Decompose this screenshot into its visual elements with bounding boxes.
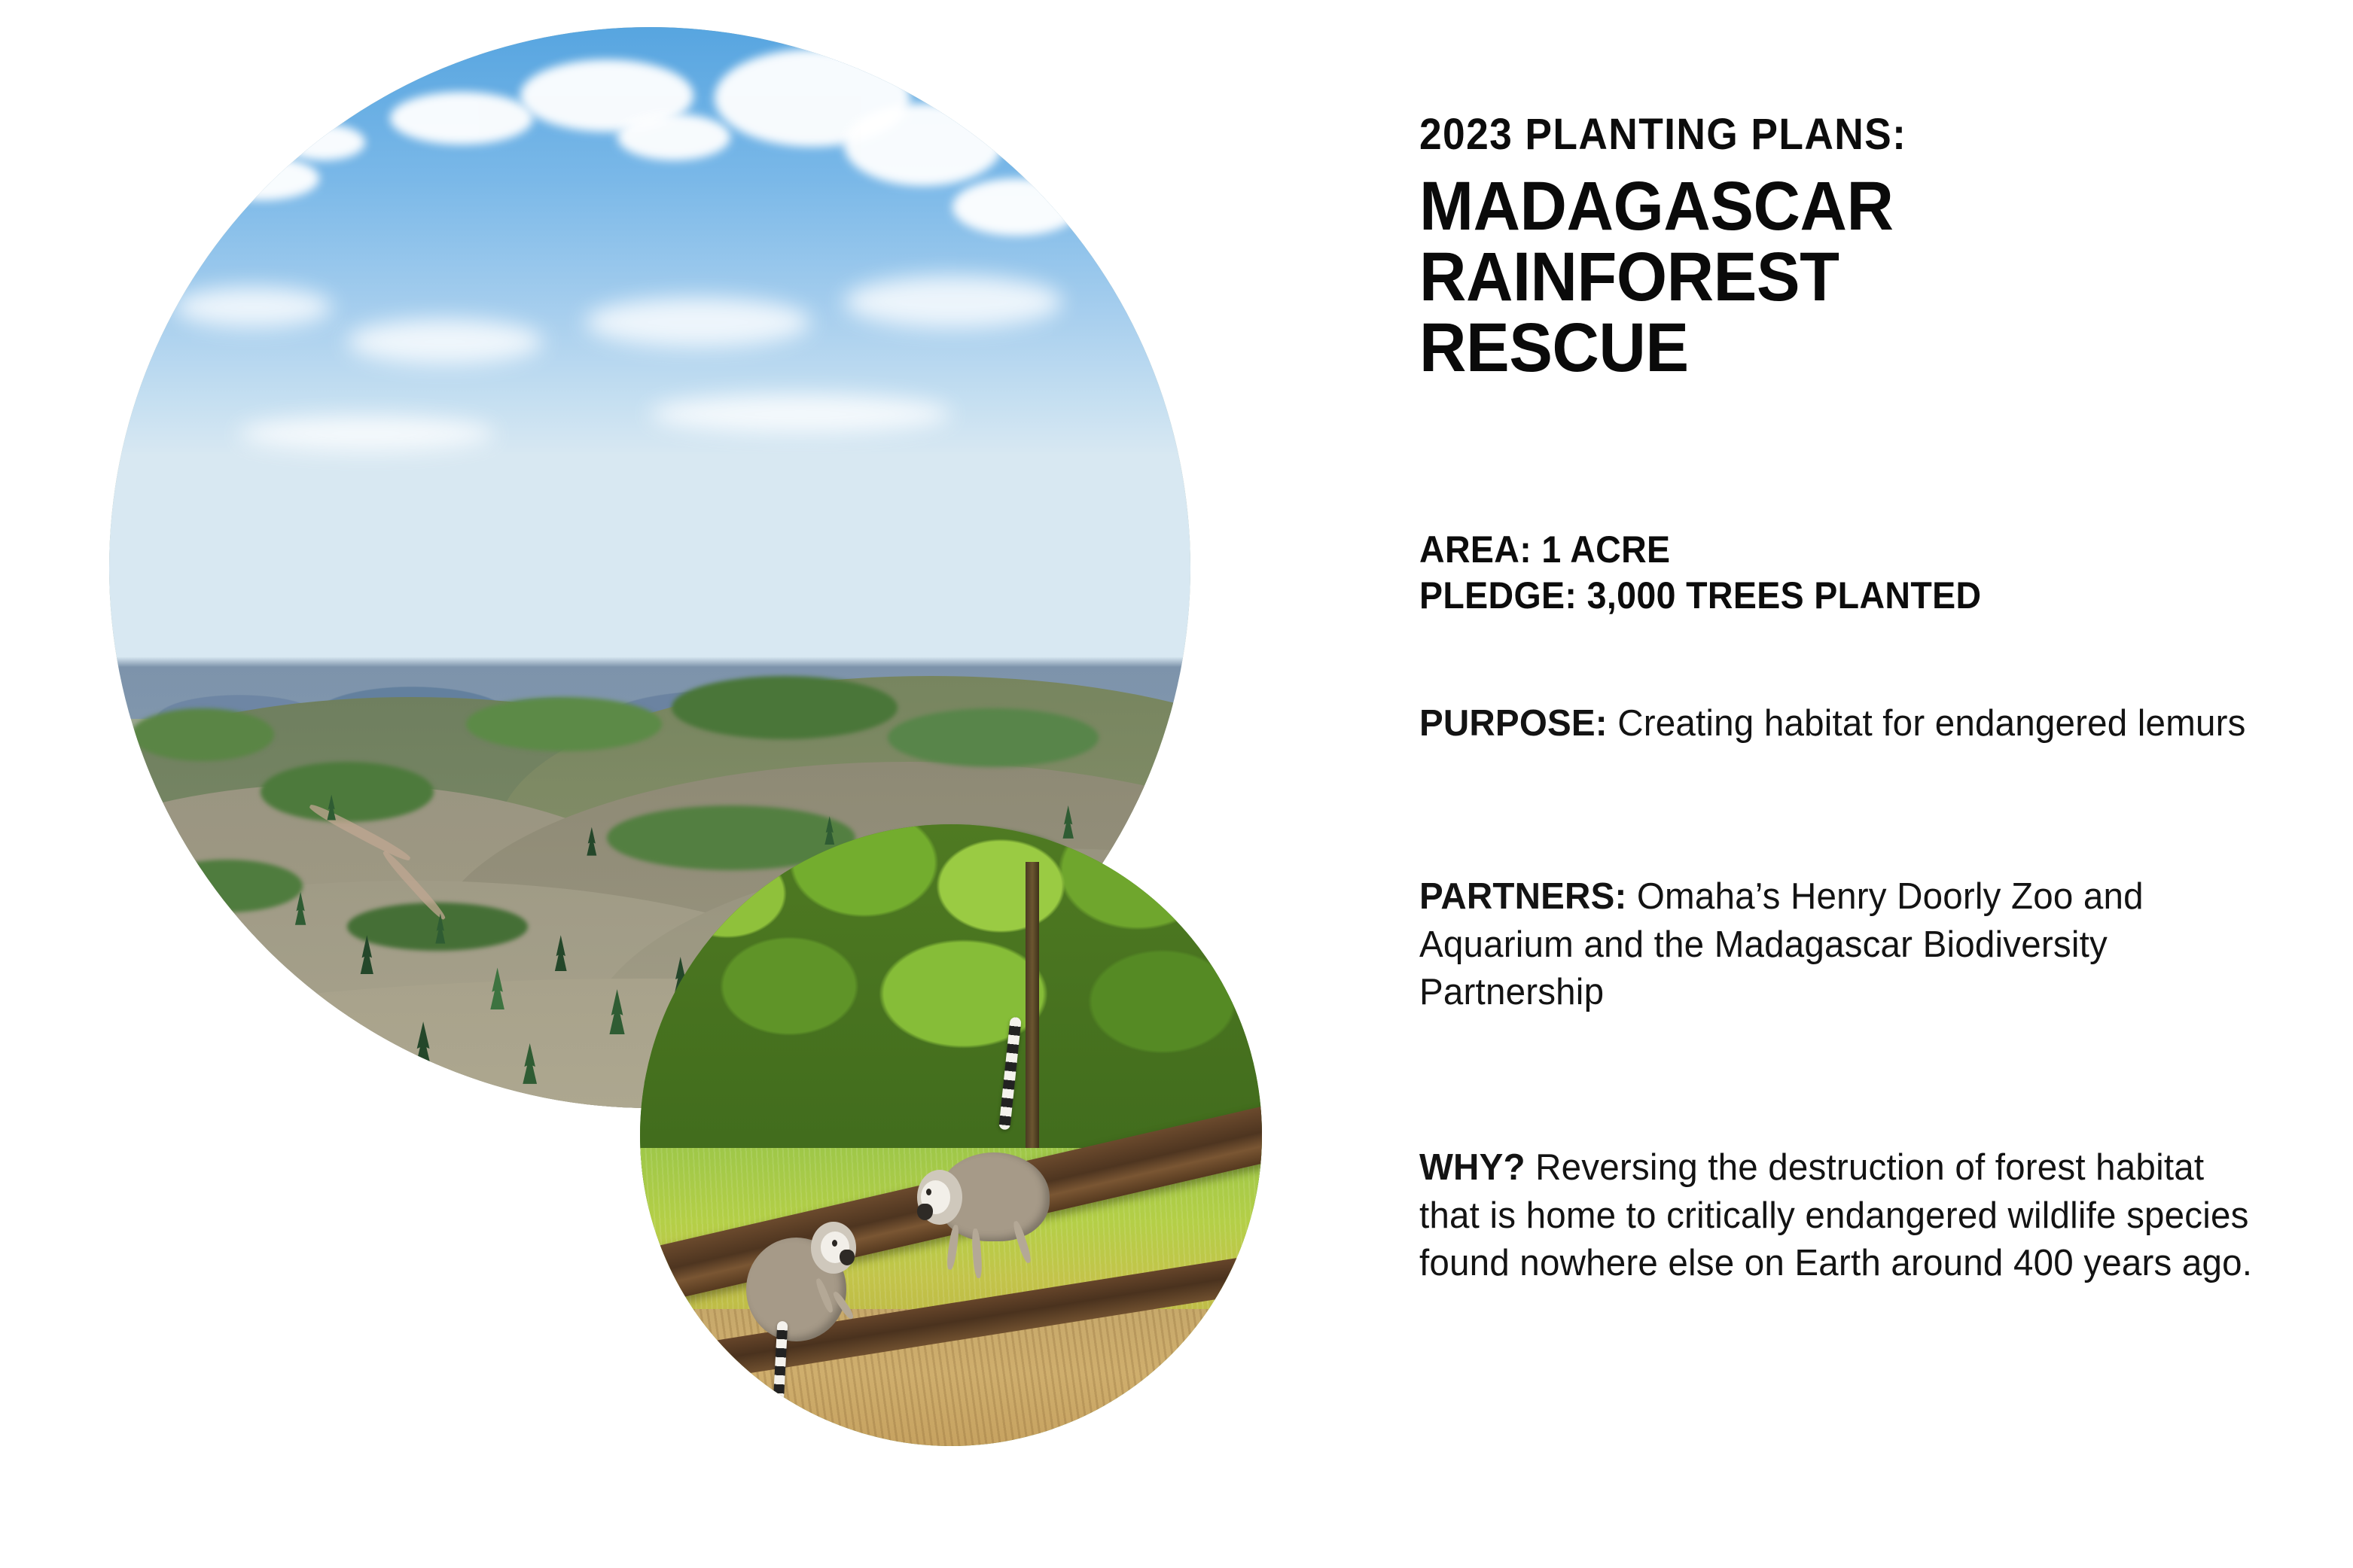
stat-row-pledge: PLEDGE: 3,000 TREES PLANTED [1419, 573, 2232, 619]
cloud-shape [390, 92, 533, 145]
detail-block-purpose: PURPOSE: Creating habitat for endangered… [1419, 700, 2274, 748]
cloud-shape [617, 114, 730, 160]
text-column: 2023 PLANTING PLANS: MADAGASCAR RAINFORE… [1419, 0, 2293, 1568]
cloud-shape [206, 157, 319, 200]
scrub-patch [261, 762, 434, 822]
scrub-patch [131, 708, 274, 761]
cloud-shape [844, 103, 1002, 186]
stat-label-area: AREA: [1419, 528, 1532, 571]
lemur-sitting [739, 1210, 901, 1408]
headline-line-2: RAINFOREST [1419, 242, 2240, 313]
eyebrow-label: 2023 PLANTING PLANS: [1419, 113, 1906, 157]
lemur-leg [946, 1224, 960, 1270]
lemur-eye [926, 1189, 931, 1195]
headline-line-1: MADAGASCAR [1419, 172, 2240, 242]
scrub-patch [152, 860, 303, 912]
stat-value-area: 1 ACRE [1541, 528, 1670, 571]
stat-label-pledge: PLEDGE: [1419, 574, 1577, 617]
detail-label-purpose: PURPOSE: [1419, 703, 1608, 744]
lemur-muzzle [917, 1204, 933, 1220]
lemur-walking [913, 1110, 1087, 1322]
stats-list: AREA: 1 ACRE PLEDGE: 3,000 TREES PLANTED [1419, 527, 2232, 619]
detail-block-why: WHY? Reversing the destruction of forest… [1419, 1144, 2274, 1288]
scrub-patch [888, 708, 1099, 767]
cloud-shape [174, 287, 332, 327]
stat-row-area: AREA: 1 ACRE [1419, 527, 2232, 573]
detail-text-why: Reversing the destruction of forest habi… [1419, 1147, 2252, 1283]
lemur-photo-circle [640, 824, 1262, 1446]
cloud-shape [952, 178, 1080, 236]
tree-trunk [1026, 862, 1039, 1148]
stat-value-pledge: 3,000 TREES PLANTED [1587, 574, 1982, 617]
detail-label-why: WHY? [1419, 1147, 1525, 1188]
cloud-shape [585, 297, 811, 347]
cloud-shape [844, 276, 1062, 328]
lemur-muzzle [840, 1250, 854, 1265]
page-title: MADAGASCAR RAINFOREST RESCUE [1419, 172, 2240, 383]
scrub-patch [466, 697, 662, 751]
infographic-page: 2023 PLANTING PLANS: MADAGASCAR RAINFORE… [0, 0, 2353, 1568]
cloud-shape [650, 394, 951, 434]
detail-block-partners: PARTNERS: Omaha’s Henry Doorly Zoo and A… [1419, 873, 2274, 1017]
image-column [0, 0, 1355, 1568]
lemur-eye [832, 1240, 837, 1247]
detail-label-partners: PARTNERS: [1419, 876, 1626, 917]
cloud-shape [347, 319, 543, 364]
detail-text-purpose: Creating habitat for endangered lemurs [1608, 703, 2246, 744]
cloud-shape [239, 416, 495, 451]
headline-line-3: RESCUE [1419, 313, 2240, 384]
cloud-shape [282, 124, 365, 160]
scrub-patch [672, 676, 898, 739]
